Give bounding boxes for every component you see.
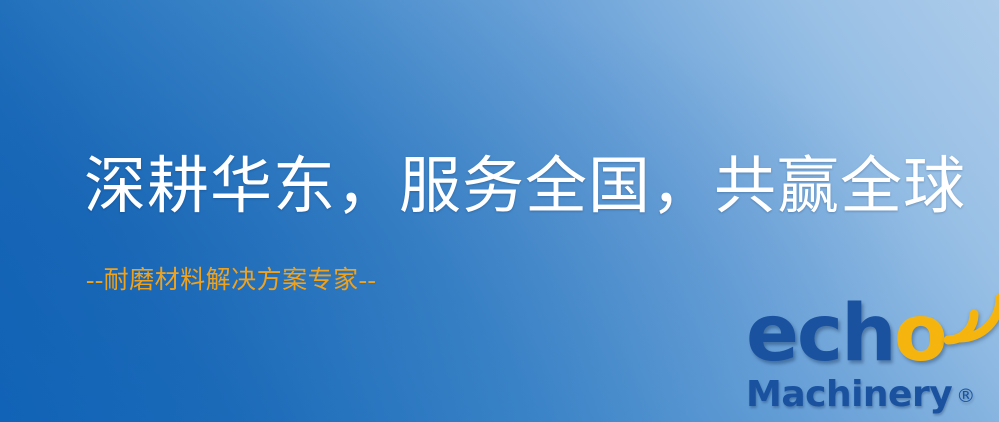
echo-wave-icon (940, 292, 999, 354)
logo-subtext: Machinery® (746, 374, 975, 417)
logo-wordmark: ech o (744, 296, 999, 380)
registered-trademark-icon: ® (956, 385, 975, 407)
banner-subtitle: --耐磨材料解决方案专家-- (86, 266, 376, 296)
logo-subtext-label: Machinery (746, 374, 952, 415)
logo-text-ech: ech (746, 292, 895, 376)
logo-text-o: o (894, 292, 946, 376)
banner-headline: 深耕华东，服务全国，共赢全球 (84, 152, 966, 222)
echo-machinery-logo[interactable]: ech o Machinery® (744, 296, 999, 422)
promo-banner: 深耕华东，服务全国，共赢全球 --耐磨材料解决方案专家-- ech o Mach… (0, 0, 999, 422)
